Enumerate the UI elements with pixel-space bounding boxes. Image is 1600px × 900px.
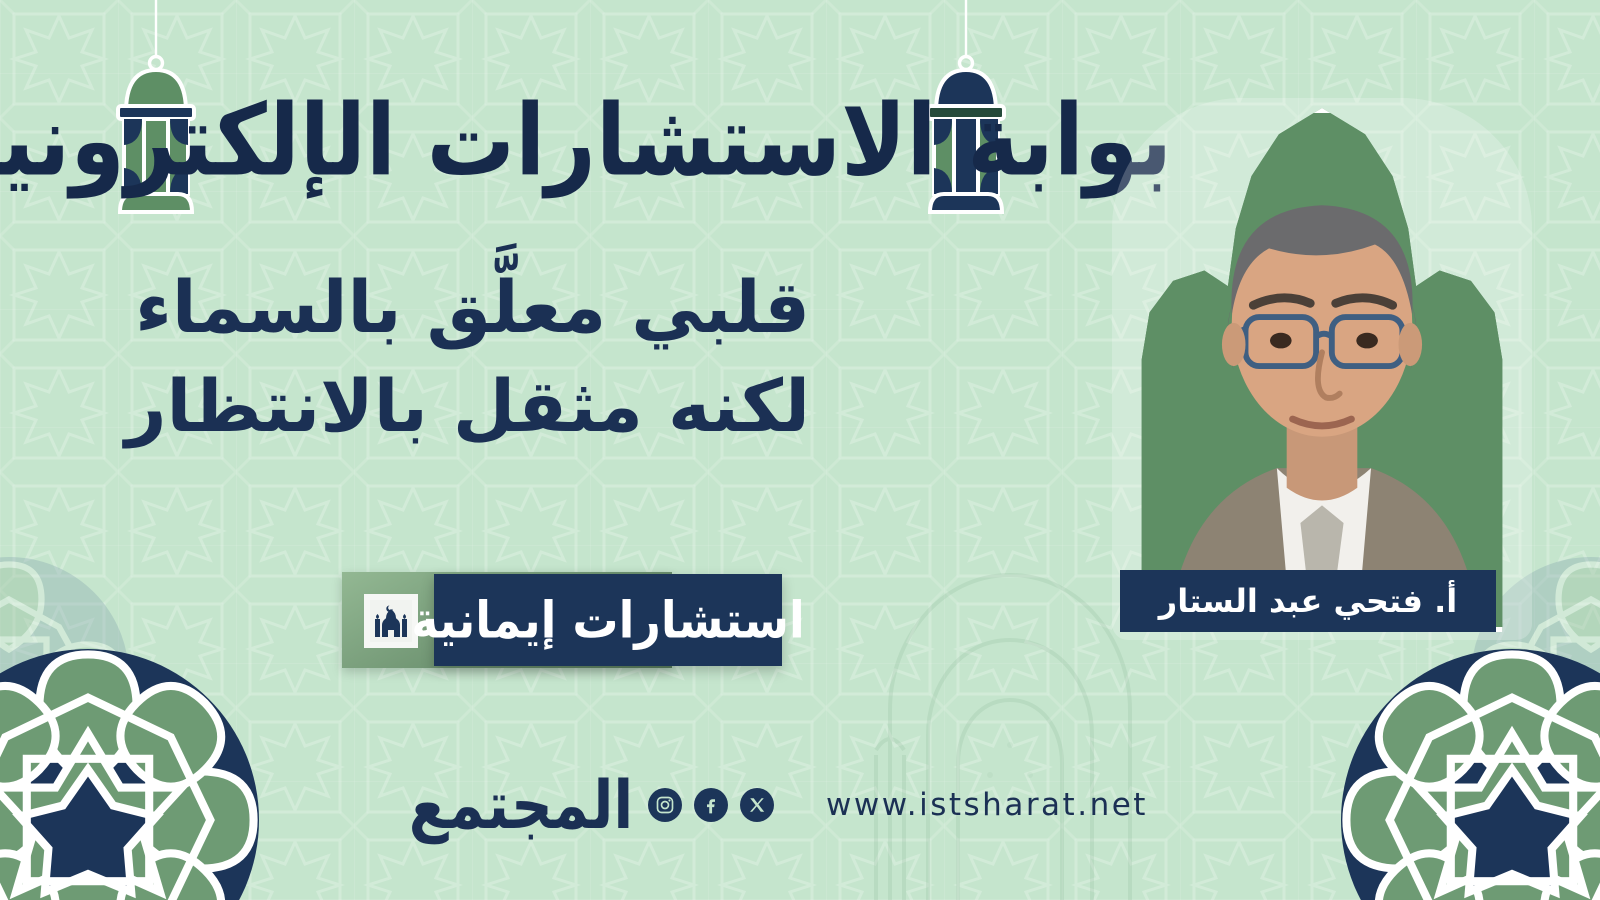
headline-block: قلبي معلَّق بالسماء لكنه مثقل بالانتظار bbox=[250, 258, 810, 457]
headline-line-1: قلبي معلَّق بالسماء bbox=[250, 258, 810, 357]
category-label: استشارات إيمانية bbox=[411, 590, 804, 649]
portal-title: بوابة الاستشارات الإلكترونية bbox=[200, 48, 920, 233]
banner-plate: استشارات إيمانية bbox=[434, 574, 782, 666]
headline-line-2: لكنه مثقل بالانتظار bbox=[250, 357, 810, 456]
footer-bar: المجتمع www.istsharat.net bbox=[0, 760, 1600, 850]
mosque-icon-tile bbox=[364, 594, 418, 648]
brand-logo: المجتمع bbox=[448, 756, 594, 855]
speaker-name: أ. فتحي عبد الستار bbox=[1159, 582, 1457, 620]
website-url[interactable]: www.istsharat.net bbox=[826, 787, 1148, 823]
instagram-icon[interactable] bbox=[648, 788, 682, 822]
poster-canvas: بوابة الاستشارات الإلكترونية قلبي معلَّق… bbox=[0, 0, 1600, 900]
speaker-card: أ. فتحي عبد الستار bbox=[1112, 98, 1532, 640]
speaker-name-plate: أ. فتحي عبد الستار bbox=[1120, 570, 1496, 632]
facebook-icon[interactable] bbox=[694, 788, 728, 822]
category-banner: استشارات إيمانية bbox=[342, 560, 782, 678]
mosque-icon bbox=[372, 603, 410, 639]
x-icon[interactable] bbox=[740, 788, 774, 822]
social-links bbox=[648, 788, 774, 822]
